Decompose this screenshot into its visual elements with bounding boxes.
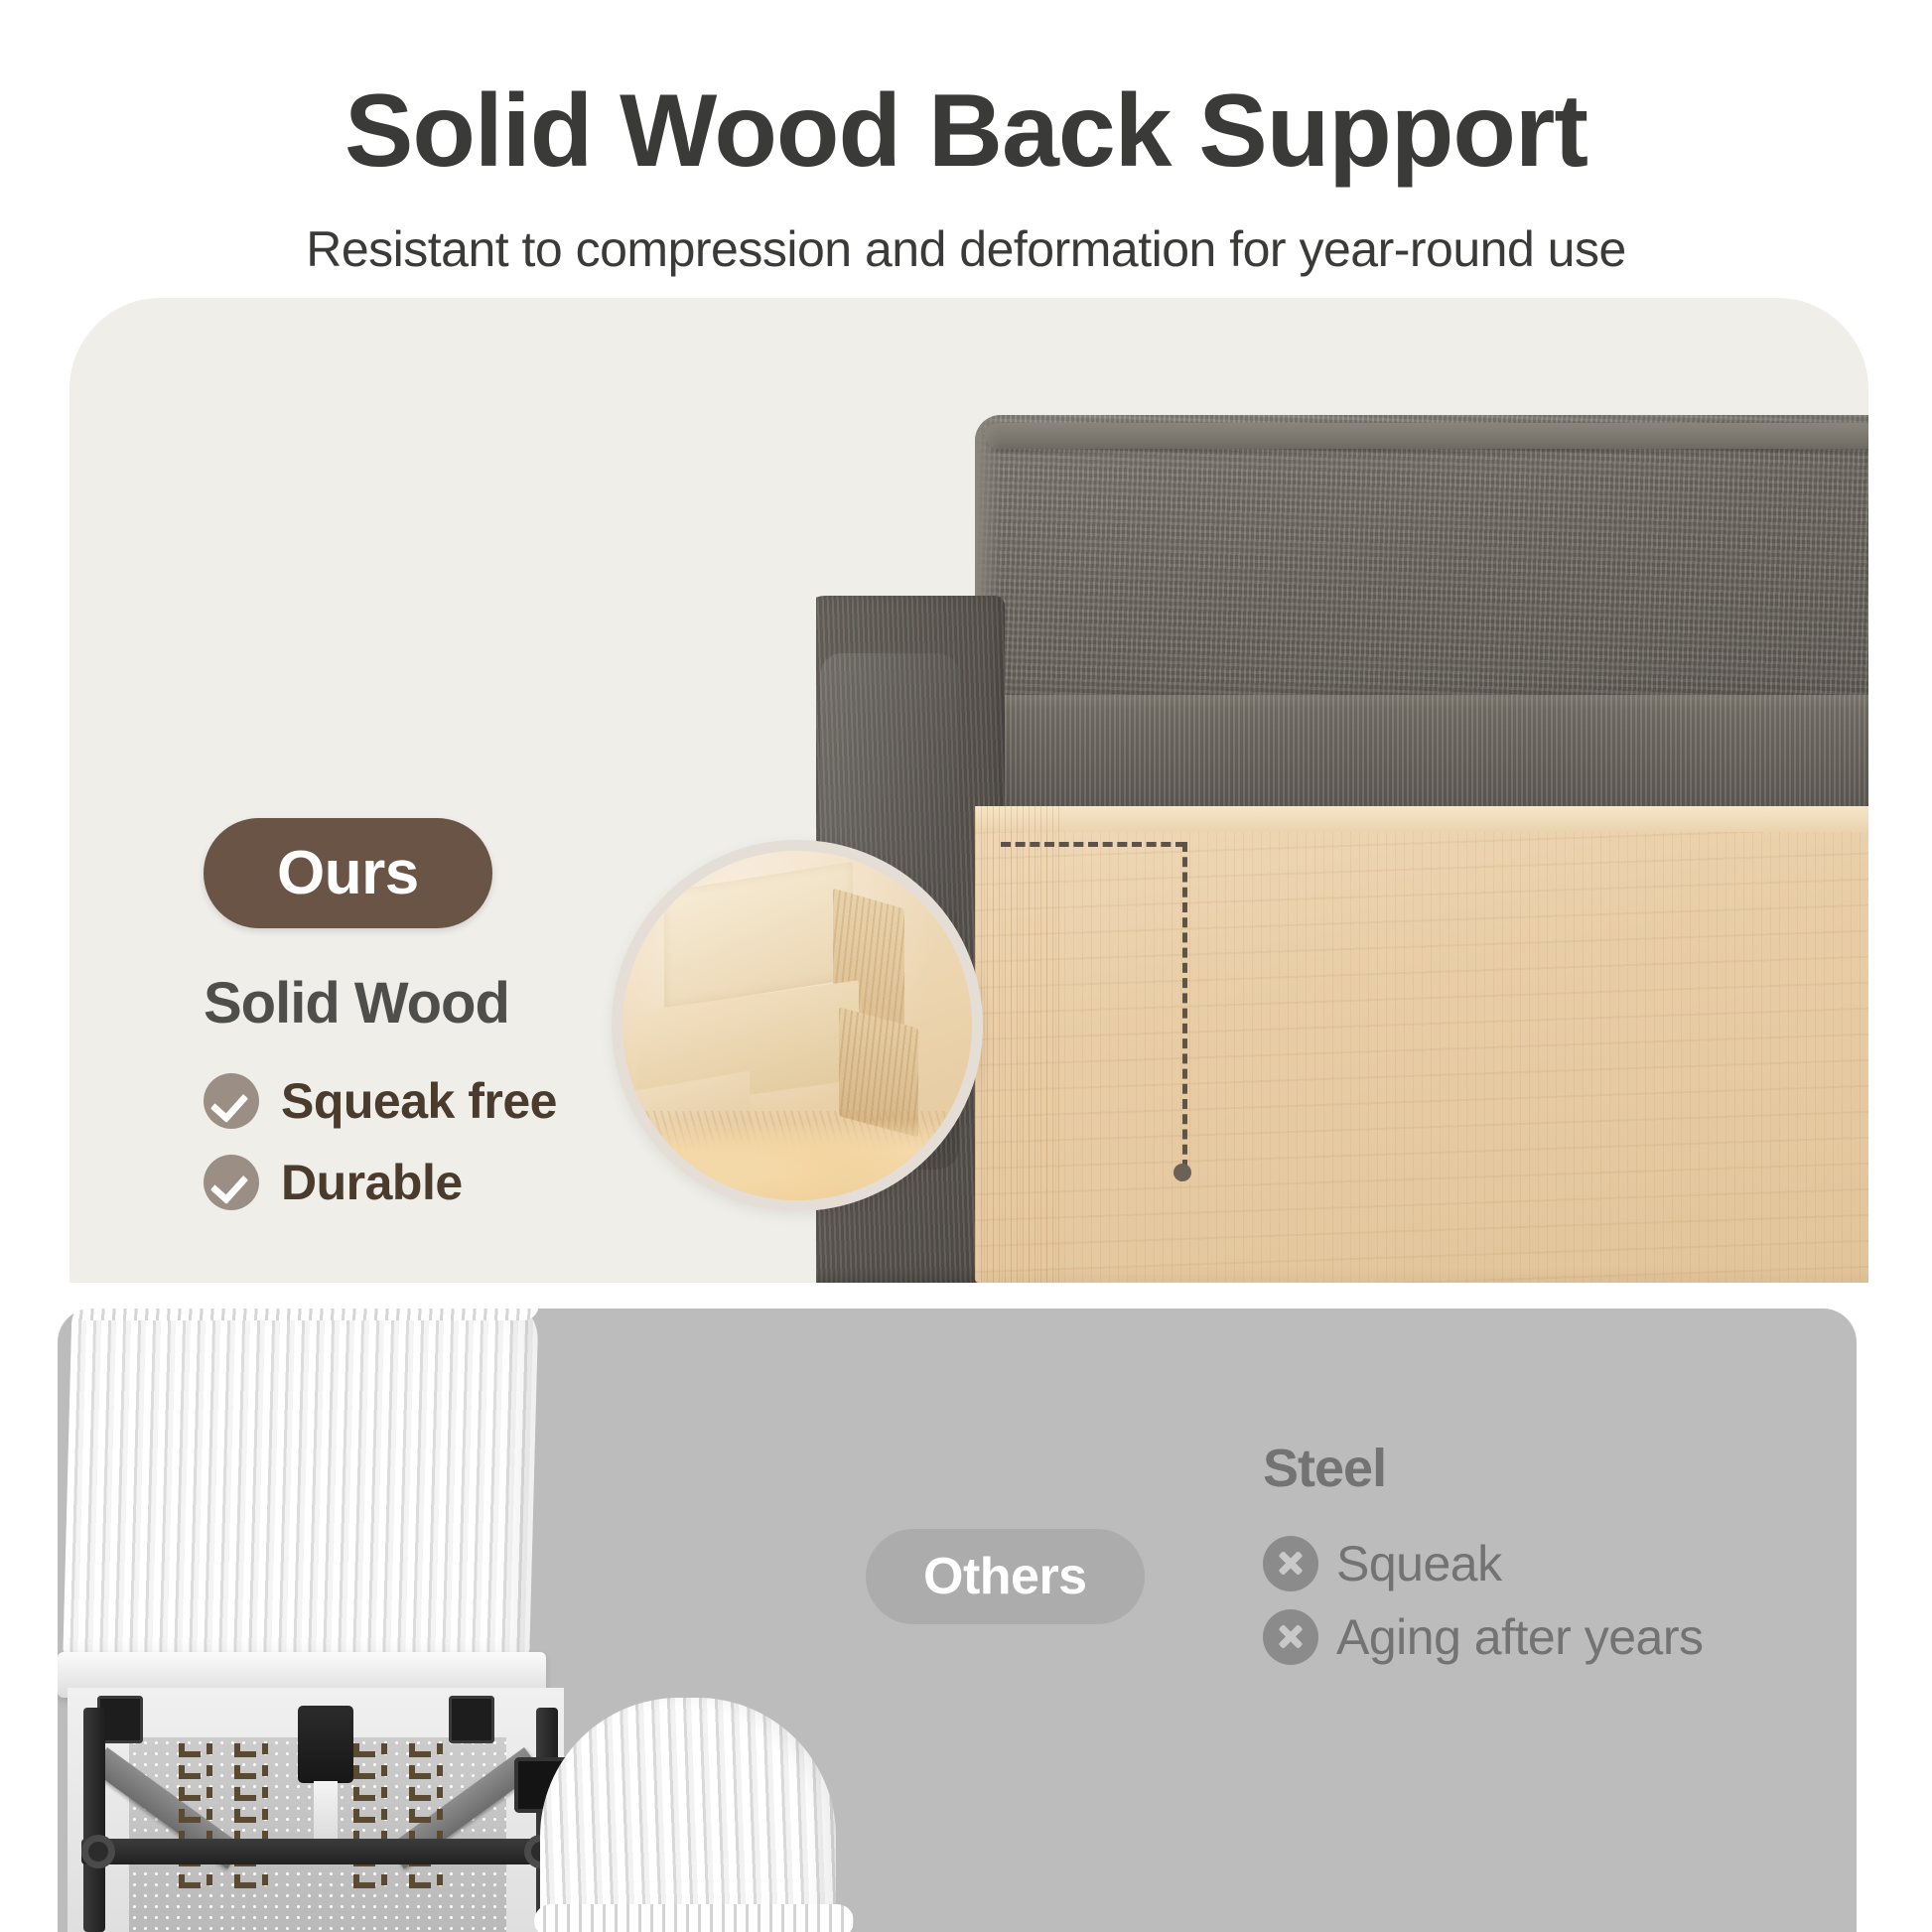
- frame-bracket-right: [449, 1696, 494, 1743]
- ours-feature-item: Squeak free: [204, 1072, 621, 1130]
- ours-feature-label: Squeak free: [281, 1072, 557, 1130]
- others-feature-item: Squeak: [1263, 1535, 1878, 1592]
- check-circle-icon: [204, 1073, 259, 1129]
- frame-vertical-bar-left: [83, 1708, 105, 1932]
- page-title: Solid Wood Back Support: [0, 77, 1932, 186]
- ours-material-label: Solid Wood: [204, 970, 621, 1036]
- frame-pivot-left: [81, 1835, 115, 1868]
- solid-wood-sofa-photo: [816, 298, 1868, 1283]
- page-subtitle: Resistant to compression and deformation…: [0, 219, 1932, 279]
- wood-panel-grain-edge: [975, 806, 1060, 1283]
- header: Solid Wood Back Support Resistant to com…: [0, 0, 1932, 279]
- others-feature-label: Aging after years: [1336, 1608, 1703, 1666]
- ours-feature-list: Squeak free Durable: [204, 1072, 621, 1211]
- solid-wood-panel: [975, 806, 1868, 1283]
- others-feature-label: Squeak: [1336, 1535, 1502, 1592]
- check-circle-icon: [204, 1155, 259, 1210]
- zigzag-spring: [234, 1743, 256, 1892]
- others-feature-item: Aging after years: [1263, 1608, 1878, 1666]
- x-circle-icon: [1263, 1536, 1318, 1591]
- ours-comparison-card: Ours Solid Wood Squeak free Durable: [69, 298, 1868, 1283]
- corduroy-sofa-arm: [540, 1698, 836, 1932]
- ours-feature-item: Durable: [204, 1154, 621, 1211]
- recliner-actuator: [298, 1706, 353, 1783]
- sofa-back-cushion: [975, 415, 1868, 713]
- zigzag-spring: [409, 1743, 431, 1892]
- others-badge: Others: [866, 1529, 1145, 1624]
- dashed-callout-vertical: [1182, 842, 1187, 1170]
- steel-frame-photo: [68, 1688, 564, 1932]
- zigzag-spring: [179, 1743, 201, 1892]
- ours-feature-label: Durable: [281, 1154, 463, 1211]
- others-feature-list: Squeak Aging after years: [1263, 1535, 1878, 1666]
- others-material-label: Steel: [1263, 1438, 1878, 1499]
- zigzag-spring: [353, 1743, 375, 1892]
- corduroy-sofa-back: [63, 1309, 538, 1656]
- ours-badge: Ours: [204, 818, 492, 928]
- wood-blocks-inset-photo: [612, 840, 983, 1211]
- wood-panel-top-edge: [975, 806, 1868, 832]
- frame-horizontal-bar: [81, 1839, 560, 1864]
- dashed-callout-dot: [1173, 1164, 1191, 1181]
- x-circle-icon: [1263, 1609, 1318, 1665]
- wood-shavings: [622, 1111, 972, 1206]
- ours-text-block: Ours Solid Wood Squeak free Durable: [204, 818, 621, 1235]
- dashed-callout-horizontal: [1001, 842, 1185, 847]
- infographic-page: Solid Wood Back Support Resistant to com…: [0, 0, 1932, 1932]
- others-text-block: Steel Squeak Aging after years: [1263, 1438, 1878, 1682]
